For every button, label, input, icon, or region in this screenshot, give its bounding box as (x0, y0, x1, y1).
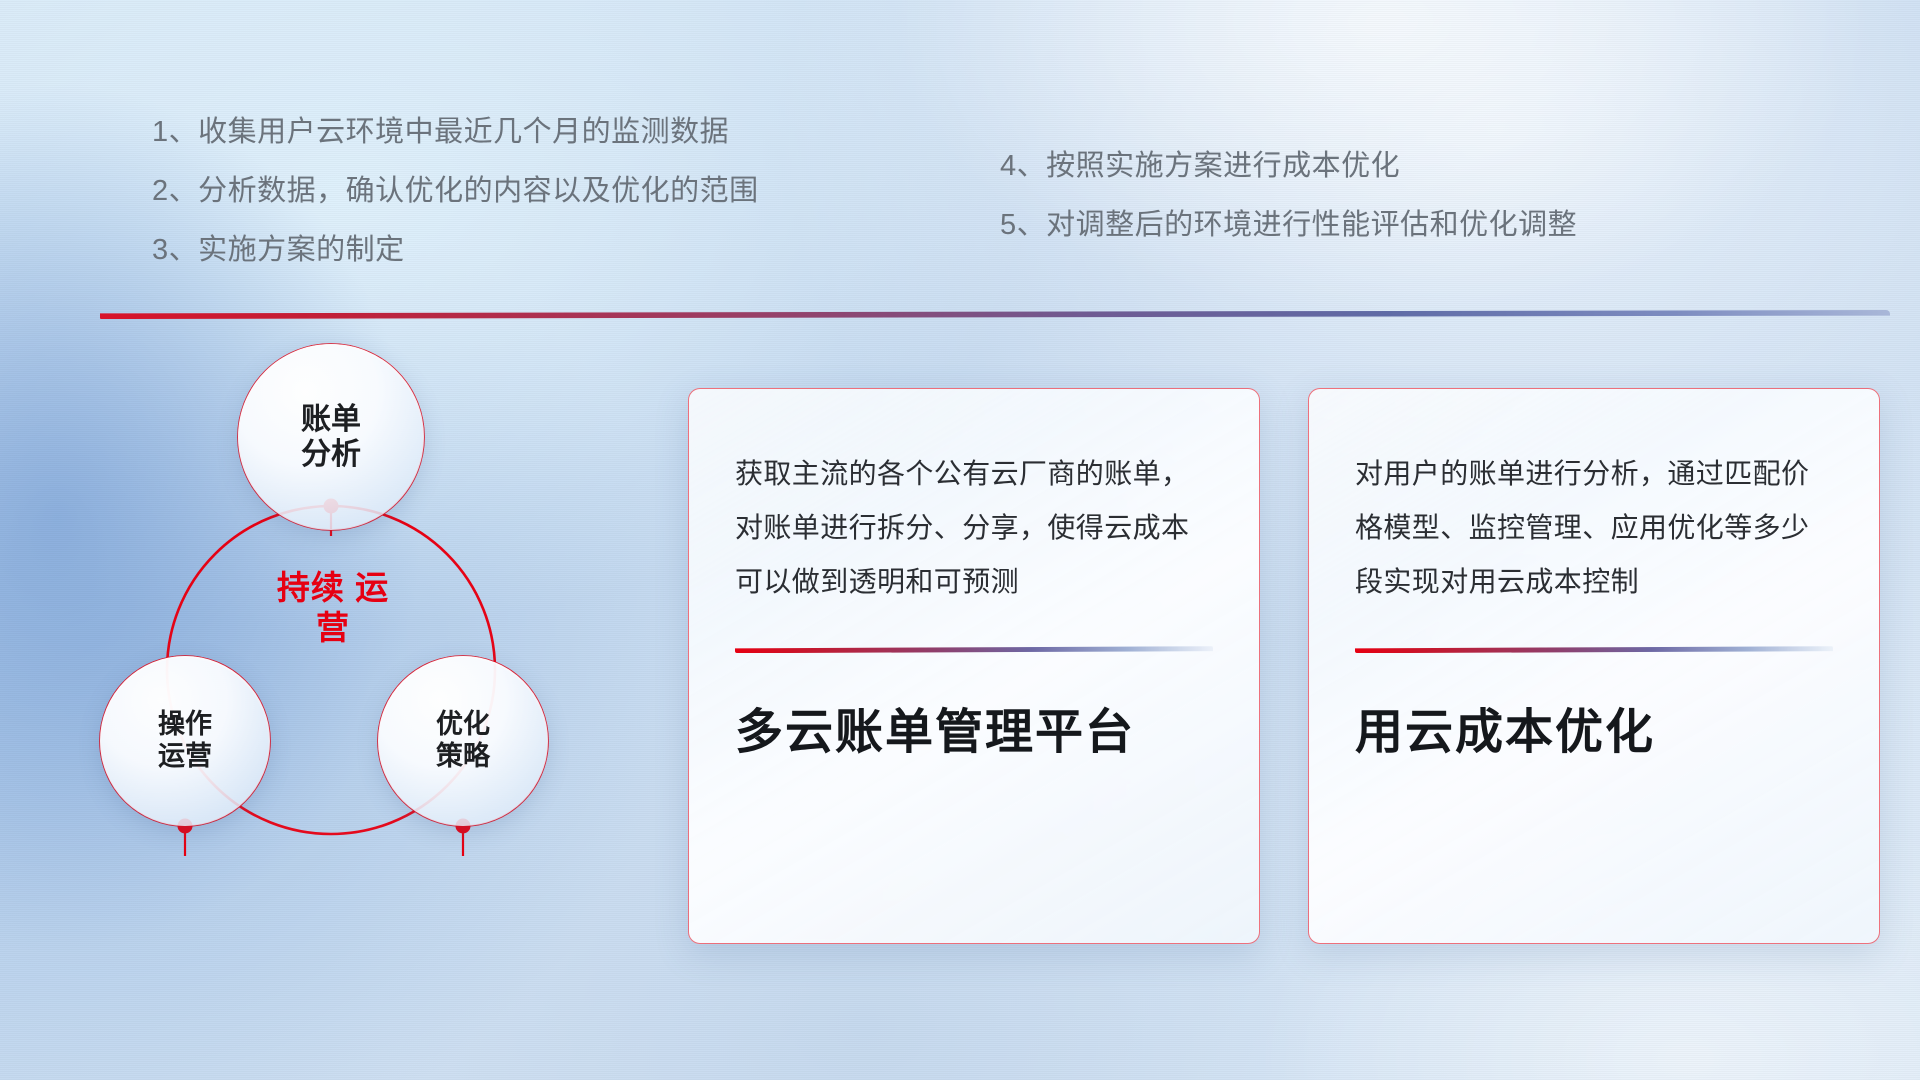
bubble-left-line1: 操作 (158, 709, 212, 741)
process-steps: 1、收集用户云环境中最近几个月的监测数据 2、分析数据，确认优化的内容以及优化的… (0, 0, 1920, 290)
step-item-5: 5、对调整后的环境进行性能评估和优化调整 (1000, 211, 1577, 240)
continuous-operation-diagram: 账单 分析 操作 运营 优化 策略 持续 运营 (90, 340, 650, 950)
bubble-left-line2: 运营 (158, 741, 212, 773)
steps-left-column: 1、收集用户云环境中最近几个月的监测数据 2、分析数据，确认优化的内容以及优化的… (152, 118, 759, 295)
card2-body: 对用户的账单进行分析，通过匹配价格模型、监控管理、应用优化等多少段实现对用云成本… (1349, 447, 1839, 608)
card1-title: 多云账单管理平台 (729, 707, 1219, 760)
step-item-1: 1、收集用户云环境中最近几个月的监测数据 (152, 118, 759, 147)
bubble-right-line2: 策略 (436, 741, 490, 773)
step-item-2: 2、分析数据，确认优化的内容以及优化的范围 (152, 177, 759, 206)
card1-accent-rule (735, 646, 1213, 653)
step-item-4: 4、按照实施方案进行成本优化 (1000, 152, 1577, 181)
card2-title: 用云成本优化 (1349, 707, 1839, 760)
center-label-line1: 持续 (277, 569, 345, 606)
bubble-top-line2: 分析 (301, 437, 361, 472)
card-multicloud-billing-platform[interactable]: 获取主流的各个公有云厂商的账单，对账单进行拆分、分享，使得云成本可以做到透明和可… (688, 388, 1260, 944)
bubble-top-line1: 账单 (301, 402, 361, 437)
card-cloud-cost-optimization[interactable]: 对用户的账单进行分析，通过匹配价格模型、监控管理、应用优化等多少段实现对用云成本… (1308, 388, 1880, 944)
diagram-bubble-optimization-strategy[interactable]: 优化 策略 (378, 656, 548, 826)
bubble-right-line1: 优化 (436, 709, 490, 741)
step-item-3: 3、实施方案的制定 (152, 236, 759, 265)
card1-body: 获取主流的各个公有云厂商的账单，对账单进行拆分、分享，使得云成本可以做到透明和可… (729, 447, 1219, 608)
diagram-center-label: 持续 运营 (265, 568, 401, 649)
card2-accent-rule (1355, 646, 1833, 653)
steps-right-column: 4、按照实施方案进行成本优化 5、对调整后的环境进行性能评估和优化调整 (1000, 152, 1577, 270)
diagram-bubble-bill-analysis[interactable]: 账单 分析 (238, 344, 424, 530)
diagram-bubble-operations[interactable]: 操作 运营 (100, 656, 270, 826)
